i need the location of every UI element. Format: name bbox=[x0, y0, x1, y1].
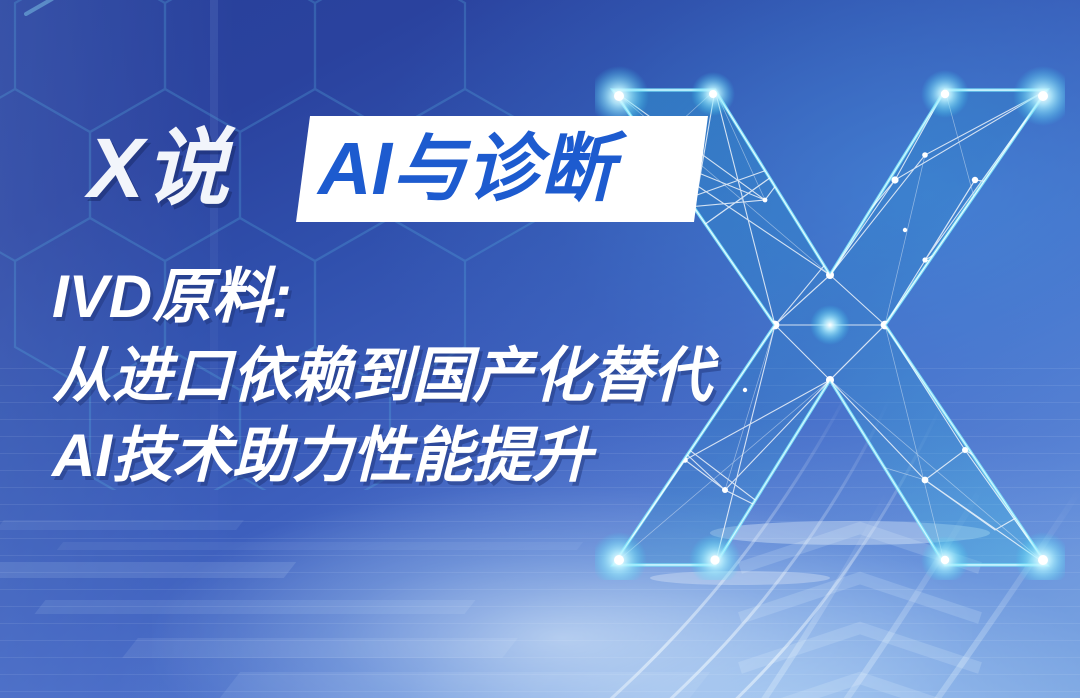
poster-canvas: AI与诊断 X说 IVD原料: 从进口依赖到国产化替代 AI技术助力性能提升 bbox=[0, 0, 1080, 698]
slab-1 bbox=[0, 562, 296, 578]
slab-6 bbox=[57, 542, 583, 550]
subtitle-block: IVD原料: 从进口依赖到国产化替代 AI技术助力性能提升 bbox=[52, 258, 832, 496]
headline-block: AI与诊断 X说 bbox=[0, 112, 740, 224]
slab-5 bbox=[220, 672, 710, 698]
slab-2 bbox=[35, 600, 476, 614]
subtitle-line-1: IVD原料: bbox=[52, 258, 832, 336]
slab-3 bbox=[122, 638, 518, 658]
slab-4 bbox=[0, 520, 244, 530]
headline-kicker: X说 bbox=[88, 112, 230, 224]
subtitle-line-3: AI技术助力性能提升 bbox=[52, 416, 832, 496]
subtitle-line-2: 从进口依赖到国产化替代 bbox=[52, 336, 832, 416]
banner-badge: AI与诊断 bbox=[296, 116, 708, 222]
banner-label: AI与诊断 bbox=[318, 116, 708, 222]
